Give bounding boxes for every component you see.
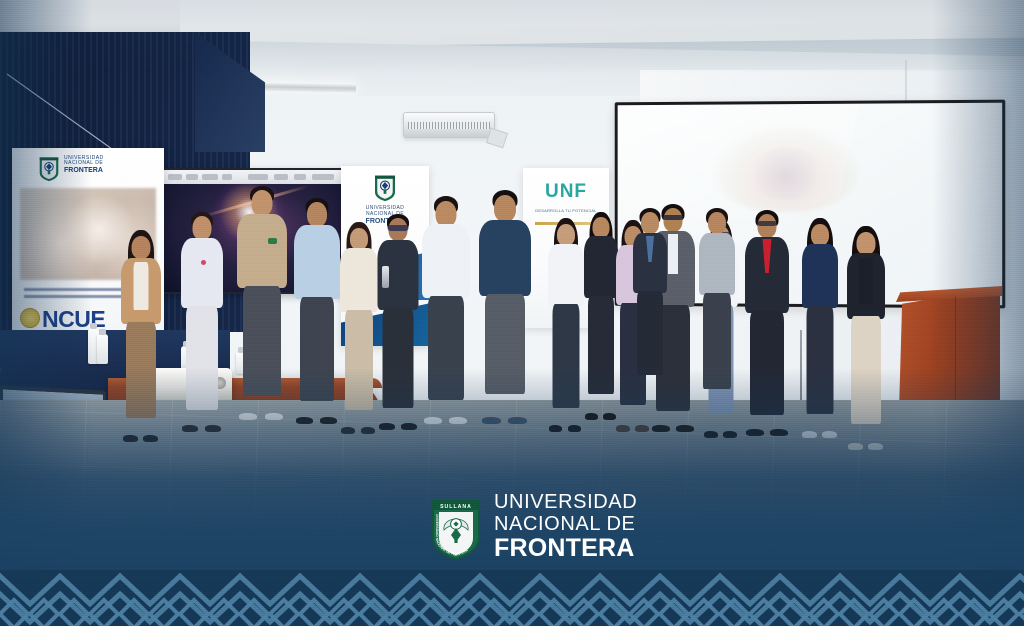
legs — [243, 286, 281, 396]
legs — [807, 306, 834, 414]
torso — [802, 244, 838, 308]
shoe — [723, 431, 737, 438]
legs — [428, 296, 464, 400]
person-8 — [474, 190, 536, 422]
shoe — [746, 429, 764, 436]
legs — [186, 306, 218, 410]
legs — [553, 304, 580, 408]
shoe — [401, 423, 417, 430]
shoe — [361, 427, 375, 434]
shoe — [205, 425, 221, 432]
torso — [699, 233, 735, 295]
legs — [703, 293, 731, 389]
head — [307, 202, 327, 227]
person-back-1 — [630, 208, 670, 376]
person-2 — [176, 212, 228, 430]
shoe — [379, 423, 395, 430]
legs — [126, 322, 156, 418]
head — [708, 212, 726, 234]
head — [593, 217, 610, 238]
shoe — [143, 435, 158, 442]
shoe — [424, 417, 442, 424]
legs — [485, 294, 525, 394]
shoe — [123, 435, 138, 442]
eyeglasses-icon — [758, 221, 777, 226]
person-3 — [232, 186, 292, 418]
shoe — [868, 443, 883, 450]
shoe — [508, 417, 527, 424]
head — [132, 236, 151, 259]
shoe — [296, 417, 313, 424]
shoe — [568, 425, 581, 432]
head — [350, 228, 368, 250]
group-of-people — [0, 0, 1024, 626]
head — [857, 232, 876, 255]
torso — [422, 224, 470, 298]
eyeglasses-icon — [388, 225, 409, 231]
shoe — [585, 413, 598, 420]
shoe — [182, 425, 198, 432]
legs — [588, 296, 614, 394]
award-trophy — [382, 266, 389, 288]
legs — [383, 308, 414, 408]
legs — [637, 291, 663, 375]
shoe — [449, 417, 467, 424]
torso — [181, 238, 223, 308]
torso — [237, 214, 287, 288]
head — [557, 224, 575, 246]
torso — [548, 244, 584, 306]
torso — [294, 225, 340, 299]
shoe — [635, 425, 649, 432]
legs — [851, 316, 881, 424]
shoe — [341, 427, 355, 434]
shoe — [848, 443, 863, 450]
person-1 — [116, 230, 166, 440]
legs — [750, 311, 784, 415]
head — [193, 216, 212, 240]
person-15 — [798, 218, 842, 436]
torso — [340, 248, 378, 312]
shoe — [822, 431, 837, 438]
shoe — [239, 413, 257, 420]
person-6 — [374, 214, 422, 428]
shoe — [704, 431, 718, 438]
shoe — [482, 417, 501, 424]
shoe — [320, 417, 337, 424]
shoe — [652, 425, 670, 432]
shoe — [802, 431, 817, 438]
shoe — [770, 429, 788, 436]
torso — [479, 220, 531, 296]
legs — [345, 310, 373, 410]
photo-canvas: UNIVERSIDAD NACIONAL DE FRONTERA NCUE IN… — [0, 0, 1024, 626]
shoe — [549, 425, 562, 432]
shoe — [265, 413, 283, 420]
shoe — [676, 425, 694, 432]
head — [811, 224, 829, 246]
head — [494, 195, 516, 222]
person-17 — [696, 208, 738, 394]
head — [641, 212, 659, 234]
legs — [300, 297, 334, 401]
person-16 — [842, 226, 890, 448]
head — [758, 214, 777, 238]
shoe — [616, 425, 630, 432]
head — [252, 190, 273, 216]
person-14 — [742, 210, 792, 434]
person-7 — [418, 196, 474, 422]
